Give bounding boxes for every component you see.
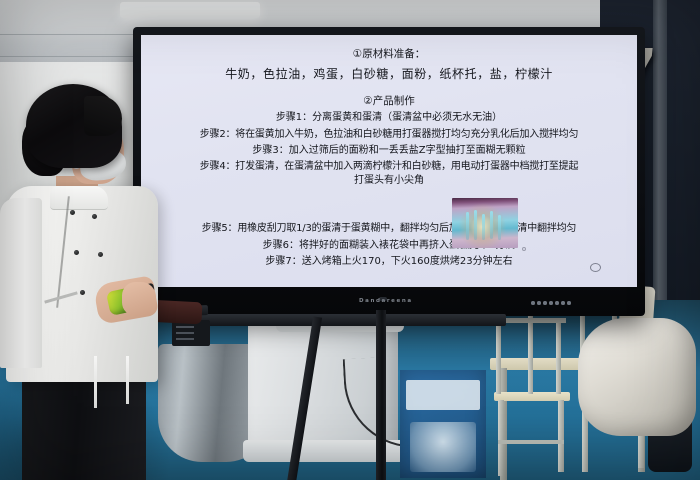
bezel-button[interactable] [567,301,571,305]
slide-step-7: 步骤7：送入烤箱上火170，下火160度烘烤23分钟左右 [141,257,637,267]
bezel-button[interactable] [543,301,547,305]
slide-circle-watermark [590,263,601,272]
display-brand-label: Dandareena [359,298,413,304]
slide-step-3: 步骤3：加入过筛后的面粉和一丢丢盐Z字型抽打至面糊无颗粒 [141,146,637,156]
bezel-button[interactable] [561,301,565,305]
stool-leg-inverted [556,318,561,394]
apron-tie [126,356,129,404]
interactive-display[interactable]: ①原材料准备： 牛奶，色拉油，鸡蛋，白砂糖，面粉，纸杯托，盐，柠檬汁 ②产品制作… [133,27,645,316]
coat-button [74,250,79,255]
slide-step-2: 步骤2：将在蛋黄加入牛奶，色拉油和白砂糖用打蛋器搅打均匀充分乳化后加入搅拌均匀 [141,130,637,140]
coat-button [70,210,75,215]
bezel-button[interactable] [531,301,535,305]
box-label [406,380,480,410]
display-bottom-bezel: Dandareena [133,295,645,316]
slide-section-1-title: ①原材料准备： [141,49,637,60]
coat-button [92,214,97,219]
slide-embedded-photo [452,198,518,248]
bezel-button[interactable] [537,301,541,305]
slide-step-6: 步骤6：将拌好的面糊装入裱花袋中再挤入蛋糕托中8分满 [141,241,637,251]
coat-button [98,252,103,257]
display-stand-post [376,310,386,480]
presentation-slide[interactable]: ①原材料准备： 牛奶，色拉油，鸡蛋，白砂糖，面粉，纸杯托，盐，柠檬汁 ②产品制作… [141,35,637,287]
draped-white-cloth [578,318,696,436]
display-stand-crossbar [176,314,506,326]
slide-ingredients: 牛奶，色拉油，鸡蛋，白砂糖，面粉，纸杯托，盐，柠檬汁 [141,68,637,80]
slide-section-2-title: ②产品制作 [141,96,637,107]
person-coat-left-sleeve [0,198,42,368]
coat-button [80,290,85,295]
stool-leg-inverted [528,316,533,394]
person-coat-collar [50,186,108,210]
stool-leg [558,400,564,472]
person-hand [122,282,156,316]
slide-step-4: 步骤4：打发蛋清，在蛋清盆中加入两滴柠檬汁和白砂糖，用电动打蛋器中档搅打至提起 [141,162,637,172]
slide-step-4-cont: 打蛋头有小尖角 [141,176,637,186]
classroom-photo: 7 Sin-Ho ①原材料准备： [0,0,700,480]
slide-step-1: 步骤1：分离蛋黄和蛋清（蛋清盆中必须无水无油） [141,113,637,123]
slide-body: ①原材料准备： 牛奶，色拉油，鸡蛋，白砂糖，面粉，纸杯托，盐，柠檬汁 ②产品制作… [141,49,637,267]
slide-bullet-dot [522,247,526,251]
apron-tie [94,356,97,408]
stool-leg [498,400,504,476]
display-control-buttons[interactable] [531,301,571,305]
box-product-image [410,422,476,472]
slide-step-5: 步骤5：用橡皮刮刀取1/3的蛋清于蛋黄糊中，翻拌均匀后加入到剩余的蛋清中翻拌均匀 [141,224,637,234]
stool-rail [498,440,564,444]
bezel-button[interactable] [549,301,553,305]
bezel-button[interactable] [555,301,559,305]
ceiling-light [120,2,260,18]
stool-leg-inverted [496,318,501,394]
mixer-packaging-box [400,370,486,478]
